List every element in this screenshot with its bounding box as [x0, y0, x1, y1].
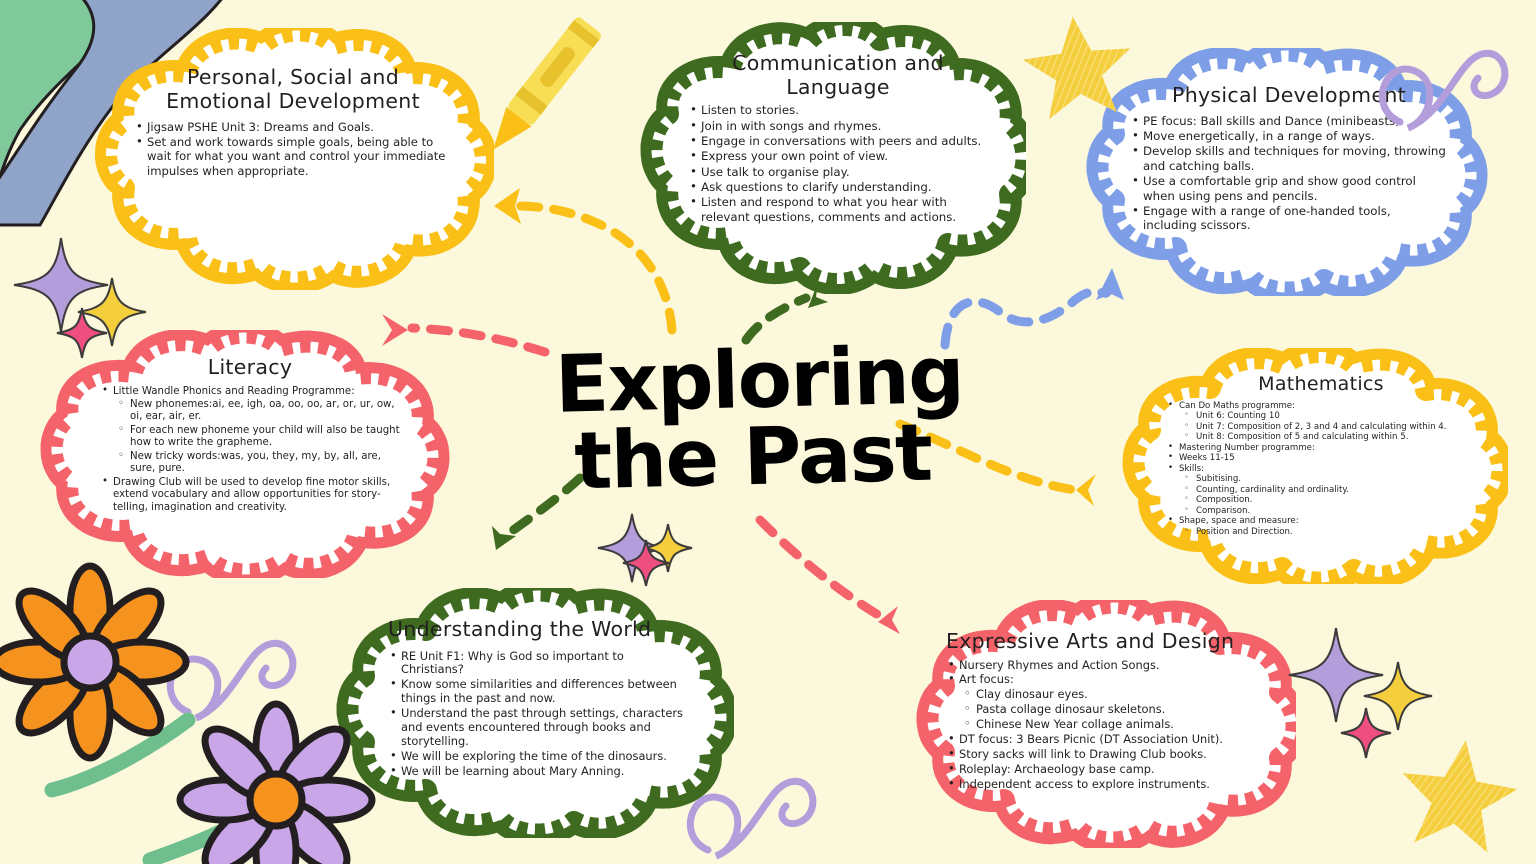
sparkle-purple-left [14, 238, 108, 332]
sparkle-yellow-right [1364, 662, 1432, 730]
star-crayon-bottom [1393, 732, 1523, 855]
squiggle-loops-top-right [1382, 53, 1505, 128]
squiggle-loops-bottom [690, 781, 813, 856]
star-crayon-top [1019, 11, 1137, 122]
foreground-decorations [0, 0, 1536, 864]
sparkle-pink-right [1341, 708, 1391, 758]
crayon-yellow [480, 15, 602, 159]
flower-orange [0, 566, 188, 790]
sparkle-purple-right [1289, 628, 1383, 722]
poster-canvas: Personal, Social and Emotional Developme… [0, 0, 1536, 864]
